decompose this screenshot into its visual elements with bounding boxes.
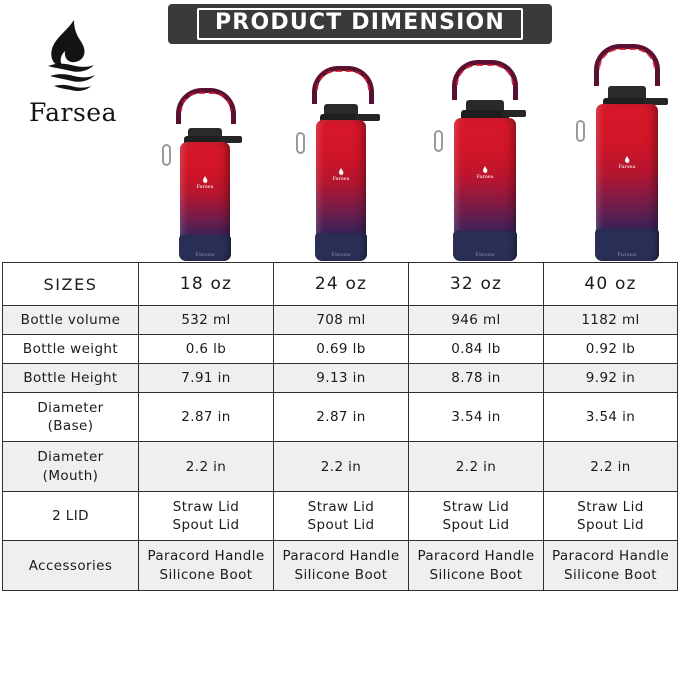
bottle-brand-logo: Farsea [454, 166, 516, 180]
page-title: PRODUCT DIMENSION [197, 8, 523, 40]
column-header-24oz: 24 oz [274, 263, 409, 306]
brand-name: Farsea [8, 98, 138, 127]
row-label-line1: Diameter [37, 449, 103, 465]
brand-logo: Farsea [8, 18, 138, 127]
bottle-image-row: Farsea Farsea Farsea [140, 40, 679, 260]
cell-value: Straw Lid Spout Lid [409, 491, 544, 540]
cell-value: 2.87 in [274, 393, 409, 442]
row-label: Bottle Height [3, 364, 139, 393]
cell-value: 3.54 in [409, 393, 544, 442]
bottle-brand-logo: Farsea [596, 156, 658, 170]
carabiner-clip-icon [576, 120, 585, 142]
cell-value: 9.92 in [544, 364, 678, 393]
row-label: 2 LID [3, 491, 139, 540]
paracord-handle-icon [452, 60, 518, 100]
column-header-18oz: 18 oz [139, 263, 274, 306]
table-row: Bottle volume 532 ml 708 ml 946 ml 1182 … [3, 306, 678, 335]
silicone-boot: Farsea [453, 231, 517, 261]
column-header-sizes: SIZES [3, 263, 139, 306]
flame-wave-logo-icon [8, 18, 138, 96]
table-row: 2 LID Straw Lid Spout Lid Straw Lid Spou… [3, 491, 678, 540]
bottle-brand-logo: Farsea [316, 168, 366, 182]
cell-value: Straw Lid Spout Lid [139, 491, 274, 540]
table-row: Diameter (Base) 2.87 in 2.87 in 3.54 in … [3, 393, 678, 442]
cell-value: 708 ml [274, 306, 409, 335]
table-header-row: SIZES 18 oz 24 oz 32 oz 40 oz [3, 263, 678, 306]
cell-value: 2.2 in [544, 442, 678, 491]
cell-value: Paracord Handle Silicone Boot [409, 541, 544, 590]
bottle-32oz: Farsea Farsea [412, 54, 552, 260]
bottle-18oz: Farsea Farsea [140, 80, 265, 260]
row-label: Diameter (Mouth) [3, 442, 139, 491]
cell-value: 2.2 in [139, 442, 274, 491]
cell-value: 1182 ml [544, 306, 678, 335]
bottle-40oz: Farsea Farsea [550, 40, 679, 260]
cell-value: 2.2 in [409, 442, 544, 491]
table-row: Bottle Height 7.91 in 9.13 in 8.78 in 9.… [3, 364, 678, 393]
cell-value: 0.84 lb [409, 335, 544, 364]
cell-value: 9.13 in [274, 364, 409, 393]
paracord-handle-icon [312, 66, 374, 104]
row-label: Diameter (Base) [3, 393, 139, 442]
silicone-boot: Farsea [179, 235, 231, 261]
table-row: Bottle weight 0.6 lb 0.69 lb 0.84 lb 0.9… [3, 335, 678, 364]
carabiner-clip-icon [162, 144, 171, 166]
bottle-24oz: Farsea Farsea [270, 60, 410, 260]
cell-value: Straw Lid Spout Lid [544, 491, 678, 540]
product-dimension-infographic: PRODUCT DIMENSION Farsea Farse [0, 0, 679, 682]
row-label: Bottle weight [3, 335, 139, 364]
cell-value: 2.87 in [139, 393, 274, 442]
table-row: Accessories Paracord Handle Silicone Boo… [3, 541, 678, 590]
row-label: Bottle volume [3, 306, 139, 335]
silicone-boot: Farsea [595, 229, 659, 261]
column-header-32oz: 32 oz [409, 263, 544, 306]
column-header-40oz: 40 oz [544, 263, 678, 306]
cell-value: Paracord Handle Silicone Boot [139, 541, 274, 590]
row-label: Accessories [3, 541, 139, 590]
cell-value: 8.78 in [409, 364, 544, 393]
cell-value: Paracord Handle Silicone Boot [274, 541, 409, 590]
cell-value: 7.91 in [139, 364, 274, 393]
header-banner: PRODUCT DIMENSION [168, 4, 552, 44]
carabiner-clip-icon [296, 132, 305, 154]
specs-table: SIZES 18 oz 24 oz 32 oz 40 oz Bottle vol… [2, 262, 678, 591]
drop-icon [339, 168, 344, 175]
cell-value: 532 ml [139, 306, 274, 335]
cell-value: Straw Lid Spout Lid [274, 491, 409, 540]
drop-icon [483, 166, 488, 173]
cell-value: 946 ml [409, 306, 544, 335]
cell-value: Paracord Handle Silicone Boot [544, 541, 678, 590]
cell-value: 0.69 lb [274, 335, 409, 364]
silicone-boot: Farsea [315, 233, 367, 261]
paracord-handle-icon [594, 44, 660, 86]
bottle-brand-logo: Farsea [180, 176, 230, 190]
cell-value: 2.2 in [274, 442, 409, 491]
row-label-line2: (Mouth) [43, 468, 99, 484]
cell-value: 0.6 lb [139, 335, 274, 364]
row-label-line1: Diameter [37, 400, 103, 416]
cell-value: 0.92 lb [544, 335, 678, 364]
cell-value: 3.54 in [544, 393, 678, 442]
row-label-line2: (Base) [48, 418, 94, 434]
drop-icon [625, 156, 630, 163]
spout-lid-icon [502, 110, 526, 117]
carabiner-clip-icon [434, 130, 443, 152]
table-row: Diameter (Mouth) 2.2 in 2.2 in 2.2 in 2.… [3, 442, 678, 491]
paracord-handle-icon [176, 88, 236, 124]
drop-icon [203, 176, 208, 183]
